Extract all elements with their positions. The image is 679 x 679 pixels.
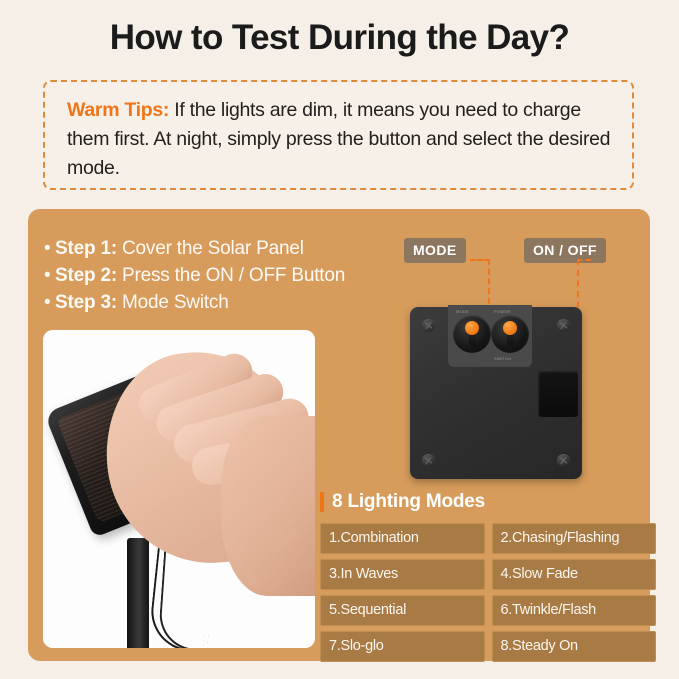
mode-cell: 5.Sequential bbox=[320, 595, 485, 626]
step-bullet-icon: • bbox=[44, 262, 55, 289]
hand-covering-solar-panel-photo bbox=[43, 330, 315, 648]
button-cap-icon bbox=[465, 321, 479, 335]
step-item: •Step 3: Mode Switch bbox=[44, 289, 374, 316]
device-micro-label-switch: SWITCH bbox=[494, 356, 512, 361]
page-title: How to Test During the Day? bbox=[0, 18, 679, 58]
step-label: Step 3: bbox=[55, 292, 117, 313]
warm-tips-box: Warm Tips: If the lights are dim, it mea… bbox=[43, 80, 634, 190]
steps-list: •Step 1: Cover the Solar Panel •Step 2: … bbox=[44, 235, 374, 316]
screw-icon bbox=[557, 319, 570, 332]
warm-tips-label: Warm Tips: bbox=[67, 99, 169, 121]
step-bullet-icon: • bbox=[44, 289, 55, 316]
mode-cell: 2.Chasing/Flashing bbox=[492, 523, 657, 554]
step-item: •Step 1: Cover the Solar Panel bbox=[44, 235, 374, 262]
step-text: Press the ON / OFF Button bbox=[117, 265, 345, 286]
callout-mode-label: MODE bbox=[404, 238, 466, 263]
device-micro-label-power: POWER bbox=[494, 309, 511, 314]
screw-icon bbox=[422, 454, 435, 467]
step-text: Cover the Solar Panel bbox=[117, 238, 304, 259]
step-text: Mode Switch bbox=[117, 292, 229, 313]
lighting-modes-heading: 8 Lighting Modes bbox=[320, 491, 485, 513]
button-cap-icon bbox=[503, 321, 517, 335]
button-inset-panel: MODE POWER SWITCH bbox=[448, 305, 532, 367]
mode-button[interactable] bbox=[453, 315, 491, 353]
stake-post bbox=[127, 538, 149, 648]
onoff-button[interactable] bbox=[491, 315, 529, 353]
lighting-modes-grid: 1.Combination 2.Chasing/Flashing 3.In Wa… bbox=[320, 523, 656, 662]
step-label: Step 1: bbox=[55, 238, 117, 259]
mode-cell: 4.Slow Fade bbox=[492, 559, 657, 590]
accent-bar-icon bbox=[320, 492, 324, 512]
leader-elbow-onoff bbox=[577, 259, 591, 261]
mode-cell: 1.Combination bbox=[320, 523, 485, 554]
wrist bbox=[221, 416, 315, 596]
mode-cell: 3.In Waves bbox=[320, 559, 485, 590]
warm-tips-text: Warm Tips: If the lights are dim, it mea… bbox=[67, 96, 616, 183]
screw-icon bbox=[422, 319, 435, 332]
instruction-panel: •Step 1: Cover the Solar Panel •Step 2: … bbox=[28, 209, 650, 661]
battery-port bbox=[538, 371, 578, 417]
controller-device: MODE POWER SWITCH bbox=[410, 307, 582, 479]
callout-onoff-label: ON / OFF bbox=[524, 238, 606, 263]
photo-background bbox=[43, 330, 315, 648]
mode-cell: 7.Slo-glo bbox=[320, 631, 485, 662]
leader-elbow-mode bbox=[470, 259, 490, 261]
screw-icon bbox=[557, 454, 570, 467]
device-micro-label-mode: MODE bbox=[456, 309, 469, 314]
step-bullet-icon: • bbox=[44, 235, 55, 262]
mode-cell: 6.Twinkle/Flash bbox=[492, 595, 657, 626]
mode-cell: 8.Steady On bbox=[492, 631, 657, 662]
step-label: Step 2: bbox=[55, 265, 117, 286]
lighting-modes-title: 8 Lighting Modes bbox=[332, 491, 485, 513]
step-item: •Step 2: Press the ON / OFF Button bbox=[44, 262, 374, 289]
